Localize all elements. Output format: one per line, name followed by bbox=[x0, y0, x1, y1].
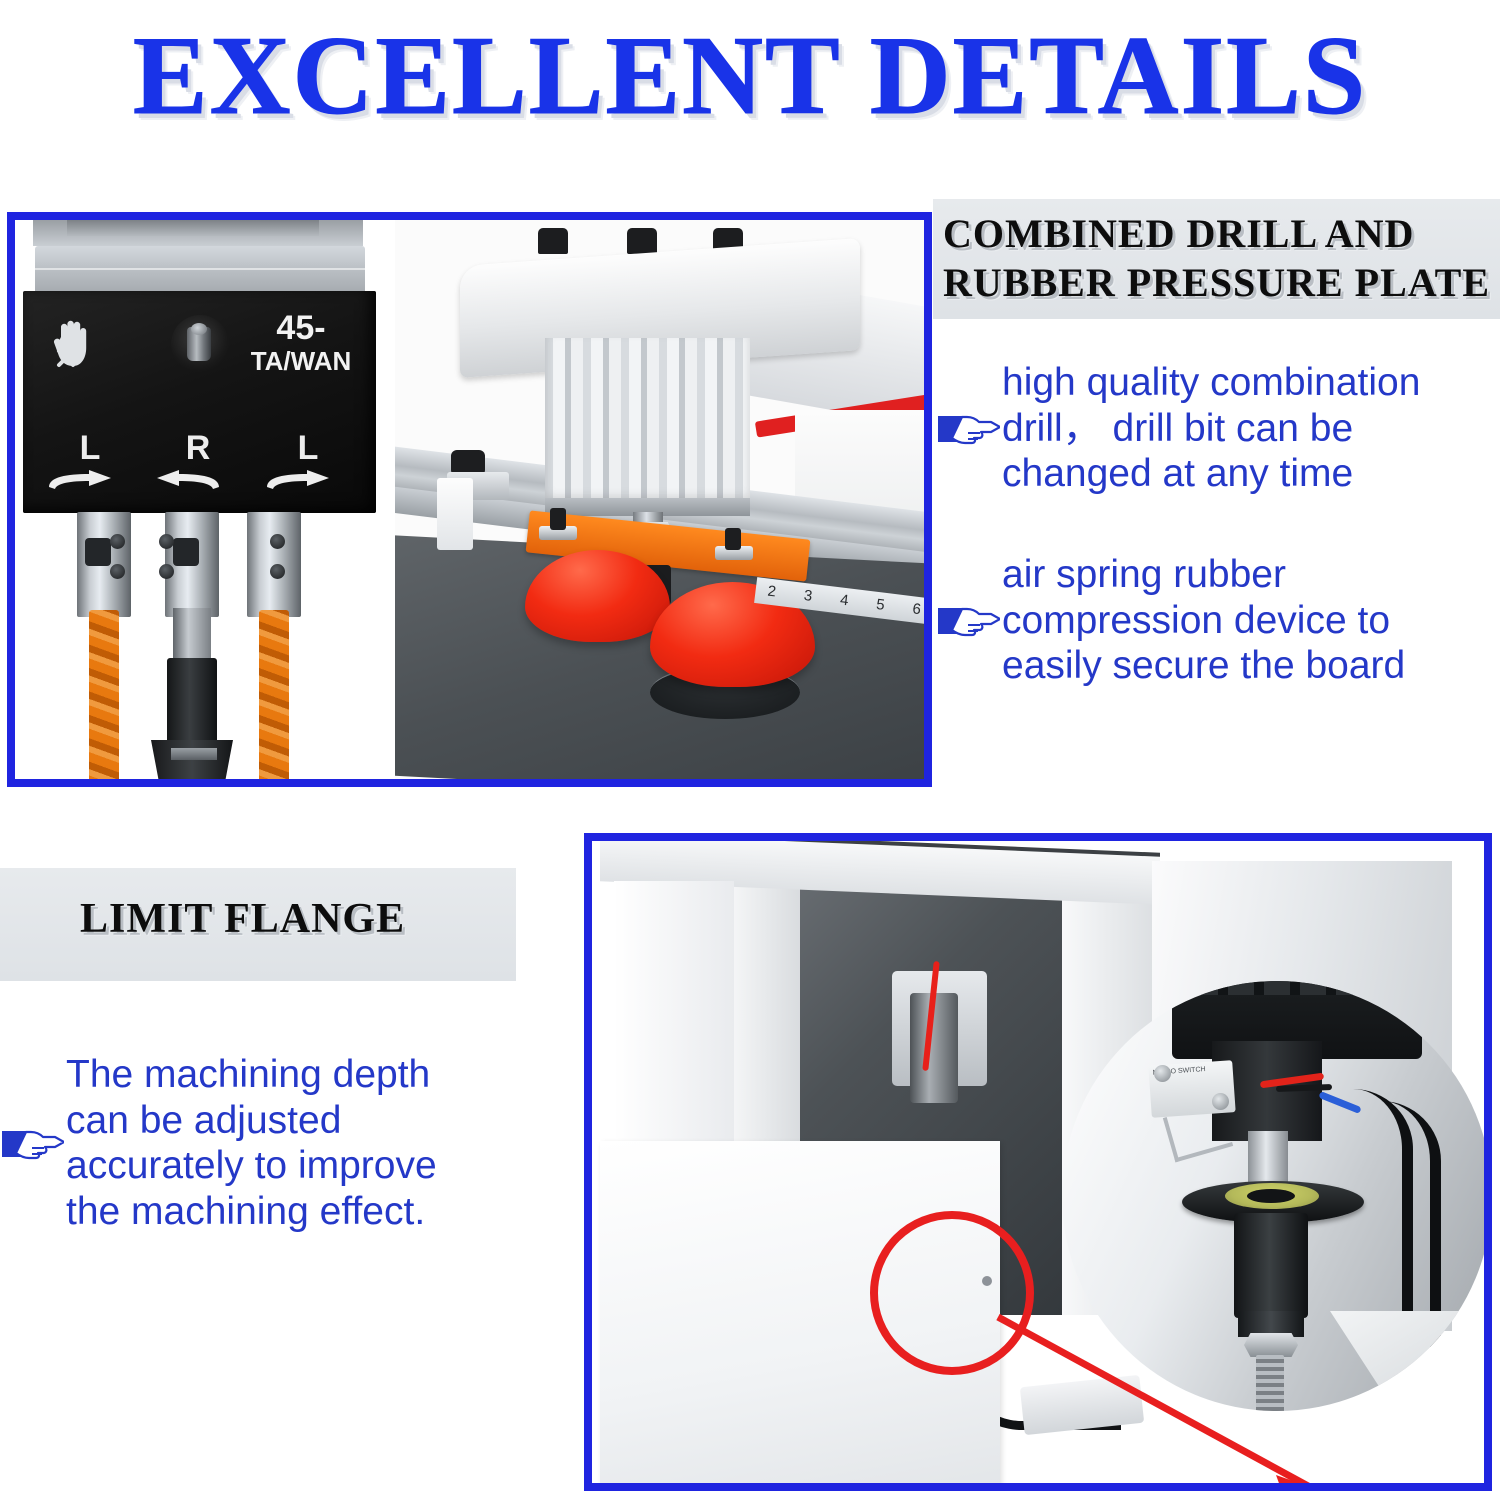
bullet-combination-drill: high quality combination drill， drill bi… bbox=[938, 360, 1498, 497]
drill-chuck-center bbox=[165, 512, 219, 617]
limit-flange-heading: LIMIT FLANGE bbox=[80, 896, 405, 942]
hinge-bit-insert bbox=[171, 748, 217, 760]
model-number-line1: 45- bbox=[242, 311, 360, 345]
drill-head-black-block: 45- TA/WAN L R L bbox=[23, 291, 376, 513]
chuck-screw bbox=[270, 564, 285, 579]
spindle-direction-3-label: L bbox=[263, 431, 353, 465]
hinge-bit-neck bbox=[173, 608, 211, 660]
drill-head-illustration: 45- TA/WAN L R L bbox=[15, 220, 395, 779]
bullet-combination-drill-text: high quality combination drill， drill bi… bbox=[1002, 360, 1420, 497]
pressure-bar-bolt bbox=[725, 528, 741, 550]
combined-drill-heading-line1: COMBINED DRILL AND bbox=[943, 210, 1490, 259]
combined-drill-heading-line2: RUBBER PRESSURE PLATE bbox=[943, 259, 1490, 308]
aluminium-plate bbox=[35, 246, 365, 291]
hinge-boring-bit-body bbox=[167, 658, 217, 743]
chuck-screw bbox=[159, 534, 174, 549]
chuck-screw bbox=[110, 564, 125, 579]
no-hand-icon bbox=[49, 317, 97, 373]
limit-flange-photo-frame: MICRO SWITCH bbox=[584, 833, 1492, 1491]
pointing-hand-icon bbox=[938, 405, 1000, 451]
chuck-flat bbox=[85, 538, 111, 566]
flange-hub bbox=[1234, 1213, 1308, 1318]
cylinder-knob bbox=[627, 228, 657, 254]
pneumatic-cylinder bbox=[545, 338, 750, 503]
pointing-hand-icon bbox=[2, 1120, 64, 1166]
chuck-flat bbox=[173, 538, 199, 566]
spindle-direction-2-label: R bbox=[153, 431, 243, 465]
stopper-flag bbox=[437, 478, 473, 550]
spiral-drill-bit-right bbox=[259, 610, 289, 779]
adjustment-nut bbox=[1244, 1333, 1298, 1357]
rubber-pressure-plate-illustration: 2 3 4 5 6 bbox=[395, 220, 924, 779]
spindle-direction-1-label: L bbox=[45, 431, 135, 465]
pointing-hand-icon bbox=[938, 597, 1000, 643]
arrow-right-icon bbox=[263, 469, 333, 491]
spindle-direction-3: L bbox=[263, 431, 353, 491]
spindle-collar bbox=[67, 220, 319, 236]
chuck-screw bbox=[110, 534, 125, 549]
page-title: EXCELLENT DETAILS bbox=[0, 18, 1500, 136]
limit-flange-zoom-detail: MICRO SWITCH bbox=[1062, 981, 1484, 1451]
arrow-left-icon bbox=[153, 469, 223, 491]
micro-switch-screw bbox=[1154, 1065, 1171, 1082]
pressure-bar-bolt bbox=[550, 508, 566, 530]
drill-head-model-label: 45- TA/WAN bbox=[242, 311, 360, 374]
zoom-disc: MICRO SWITCH bbox=[1062, 981, 1484, 1411]
cylinder-knob bbox=[538, 228, 568, 254]
bullet-air-spring: air spring rubber compression device to … bbox=[938, 552, 1498, 689]
bullet-air-spring-text: air spring rubber compression device to … bbox=[1002, 552, 1405, 689]
bullet-machining-depth-text: The machining depth can be adjusted accu… bbox=[66, 1052, 437, 1235]
combined-drill-photo-frame: 45- TA/WAN L R L bbox=[7, 212, 932, 787]
spindle-direction-2: R bbox=[153, 431, 243, 491]
spindle-direction-1: L bbox=[45, 431, 135, 491]
drill-chuck-right bbox=[247, 512, 301, 617]
flange-seal-ring bbox=[1225, 1183, 1319, 1209]
bullet-machining-depth: The machining depth can be adjusted accu… bbox=[2, 1052, 522, 1235]
spiral-drill-bit-left bbox=[89, 610, 119, 779]
grease-nipple-icon bbox=[171, 315, 229, 373]
combined-drill-heading: COMBINED DRILL AND RUBBER PRESSURE PLATE bbox=[943, 210, 1490, 308]
photo-bottom-content: MICRO SWITCH bbox=[592, 841, 1484, 1483]
chuck-screw bbox=[270, 534, 285, 549]
model-number-line2: TA/WAN bbox=[242, 348, 360, 374]
threaded-rod bbox=[1256, 1355, 1284, 1411]
photo-top-content: 45- TA/WAN L R L bbox=[15, 220, 924, 779]
chuck-screw bbox=[159, 564, 174, 579]
arrow-right-icon bbox=[45, 469, 115, 491]
drill-chuck-left bbox=[77, 512, 131, 617]
